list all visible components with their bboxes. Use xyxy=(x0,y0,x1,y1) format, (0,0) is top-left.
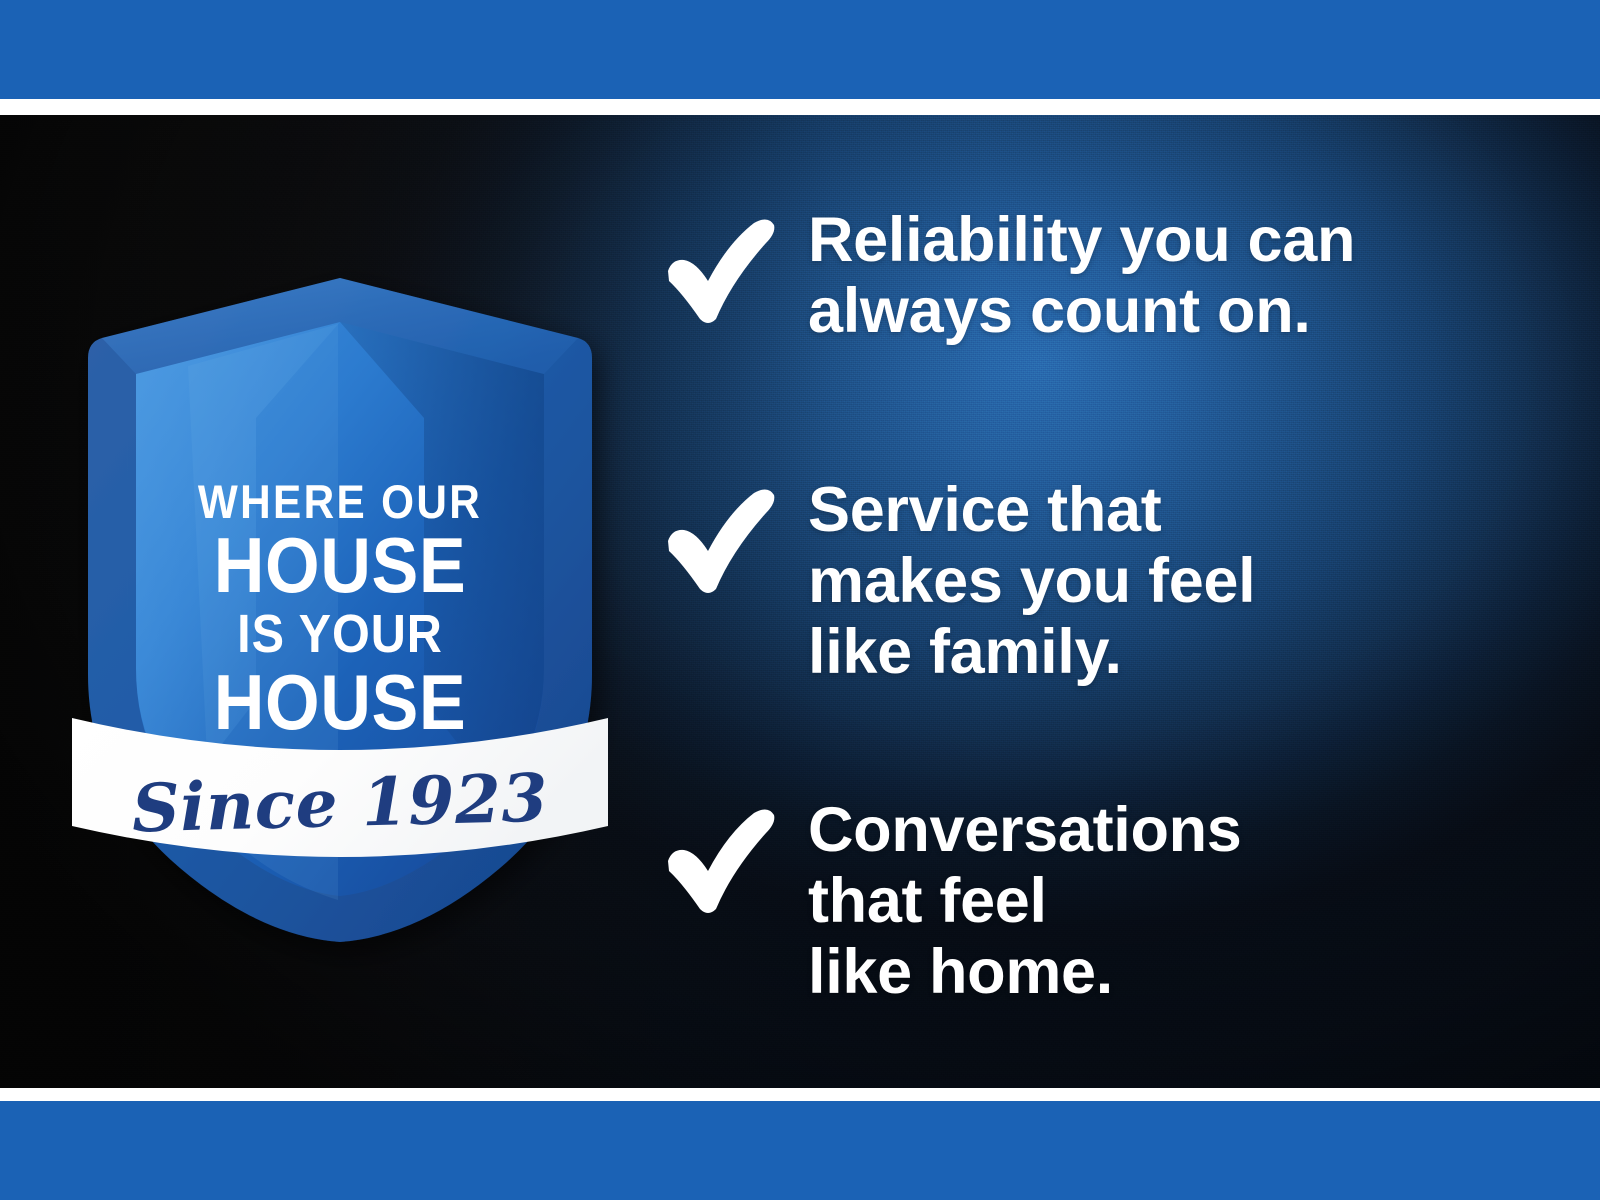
top-brand-bar xyxy=(0,0,1600,99)
badge-line-3: IS YOUR xyxy=(97,607,583,661)
badge-line-1: WHERE OUR xyxy=(97,478,583,525)
badge-line-2: HOUSE xyxy=(97,526,583,604)
list-item-text: Service that makes you feel like family. xyxy=(808,475,1255,689)
list-item-text: Conversations that feel like home. xyxy=(808,795,1242,1009)
checkmark-icon xyxy=(660,215,780,327)
list-item: Reliability you can always count on. xyxy=(660,205,1355,347)
bottom-white-divider xyxy=(0,1088,1600,1101)
checkmark-icon xyxy=(660,485,780,597)
promo-graphic: WHERE OUR HOUSE IS YOUR HOUSE Since 1923… xyxy=(0,0,1600,1200)
badge-line-4: HOUSE xyxy=(97,663,583,741)
list-item: Conversations that feel like home. xyxy=(660,795,1242,1009)
checkmark-icon xyxy=(660,805,780,917)
bottom-brand-bar xyxy=(0,1101,1600,1200)
list-item: Service that makes you feel like family. xyxy=(660,475,1255,689)
list-item-text: Reliability you can always count on. xyxy=(808,205,1355,347)
badge-ribbon-since: Since 1923 xyxy=(69,763,611,843)
top-white-divider xyxy=(0,99,1600,115)
shield-badge: WHERE OUR HOUSE IS YOUR HOUSE Since 1923 xyxy=(70,270,610,950)
content-stage: WHERE OUR HOUSE IS YOUR HOUSE Since 1923… xyxy=(0,115,1600,1088)
